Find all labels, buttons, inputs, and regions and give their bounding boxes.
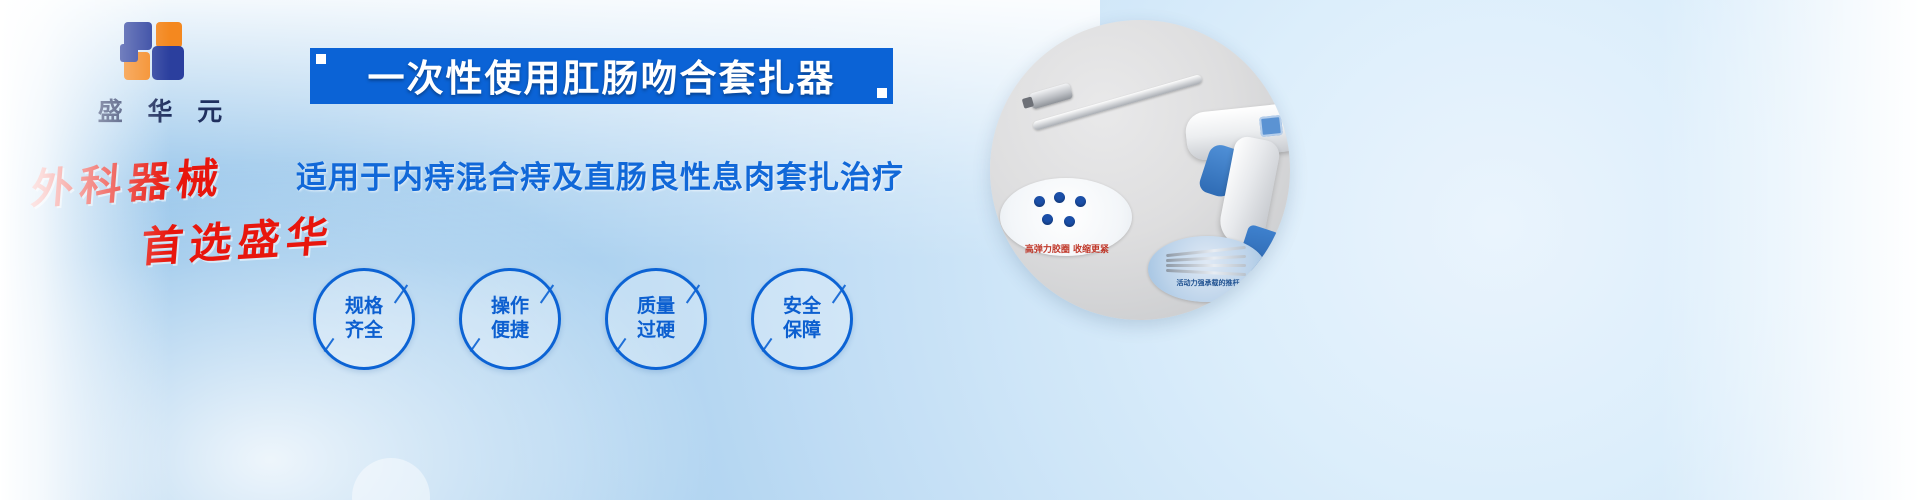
device-barrel-tip (1029, 83, 1074, 110)
page-title: 一次性使用肛肠吻合套扎器 (310, 46, 893, 104)
device-barrel (1032, 74, 1203, 131)
feature-1-line-1: 规格 (345, 295, 383, 319)
decorative-bubble (352, 458, 430, 500)
inset-push-rods (1148, 236, 1266, 302)
feature-circle-1[interactable]: 规格 齐全 (313, 268, 415, 370)
feature-3-line-2: 过硬 (637, 319, 675, 343)
brand-logo: 盛 华 元 (70, 22, 250, 132)
right-fade-overlay (1660, 0, 1920, 500)
feature-3-line-1: 质量 (637, 295, 675, 319)
device-control-panel (1259, 115, 1283, 137)
feature-circle-4[interactable]: 安全 保障 (751, 268, 853, 370)
slogan-line-2: 首选盛华 (139, 202, 337, 275)
push-rod-icon (1166, 250, 1250, 276)
subtitle: 适用于内痔混合痔及直肠良性息肉套扎治疗 (296, 152, 916, 197)
feature-1-line-2: 齐全 (345, 319, 383, 343)
feature-circle-2[interactable]: 操作 便捷 (459, 268, 561, 370)
inset-caption-needles: 活动力强承载的推杆 (1156, 278, 1260, 290)
slogan-line-1: 外科器械 (29, 144, 227, 217)
feature-circle-list: 规格 齐全 操作 便捷 质量 过硬 安全 保障 (313, 268, 853, 370)
square-blocks-logo-icon (118, 22, 202, 84)
rubber-ring-dots-icon (1034, 192, 1098, 232)
feature-2-line-2: 便捷 (491, 319, 529, 343)
brand-name: 盛 华 元 (70, 92, 250, 128)
feature-2-line-1: 操作 (491, 295, 529, 319)
product-photo: 高弹力胶圈 收缩更紧 活动力强承载的推杆 (990, 20, 1290, 320)
promo-banner: 盛 华 元 外科器械 首选盛华 一次性使用肛肠吻合套扎器 适用于内痔混合痔及直肠… (0, 0, 1920, 500)
feature-4-line-2: 保障 (783, 319, 821, 343)
feature-circle-3[interactable]: 质量 过硬 (605, 268, 707, 370)
inset-caption-rings: 高弹力胶圈 收缩更紧 (1012, 242, 1122, 256)
feature-4-line-1: 安全 (783, 295, 821, 319)
tube-icon (1227, 319, 1290, 320)
